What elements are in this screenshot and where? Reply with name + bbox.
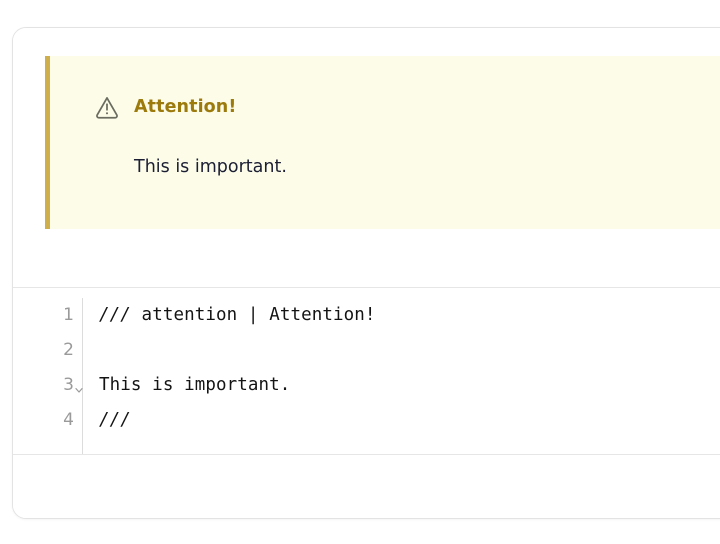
admonition-title-label: Attention! xyxy=(134,97,236,117)
admonition-title-row: Attention! xyxy=(94,94,236,120)
gutter-row: 2 xyxy=(13,333,82,368)
warning-triangle-icon xyxy=(94,94,120,120)
line-number: 4 xyxy=(63,412,74,429)
line-number-gutter: 1 2 3 4 xyxy=(13,298,83,454)
code-line: This is important. xyxy=(99,368,720,403)
gutter-row: 4 xyxy=(13,403,82,438)
source-code-pane: 1 2 3 4 xyxy=(13,288,720,455)
admonition-body-text: This is important. xyxy=(134,157,287,177)
code-line xyxy=(99,333,720,368)
gutter-row: 3 xyxy=(13,368,82,403)
code-line: /// attention | Attention! xyxy=(99,298,720,333)
code-editor[interactable]: 1 2 3 4 xyxy=(13,298,720,454)
code-token-fence: /// xyxy=(99,305,131,325)
code-line: /// xyxy=(99,403,720,438)
page-root: Attention! This is important. 1 2 3 xyxy=(0,0,720,544)
rendered-preview-pane: Attention! This is important. xyxy=(13,28,720,288)
line-number: 2 xyxy=(63,342,74,359)
gutter-row: 1 xyxy=(13,298,82,333)
code-token-text: This is important. xyxy=(99,375,290,395)
documentation-example-card: Attention! This is important. 1 2 3 xyxy=(12,27,720,519)
card-footer-strip xyxy=(13,455,720,518)
code-token-fence: /// xyxy=(99,410,131,430)
code-token-text: attention | Attention! xyxy=(131,305,376,325)
code-content[interactable]: /// attention | Attention! This is impor… xyxy=(83,298,720,454)
admonition-attention-block: Attention! This is important. xyxy=(45,56,720,229)
line-number: 1 xyxy=(63,307,74,324)
